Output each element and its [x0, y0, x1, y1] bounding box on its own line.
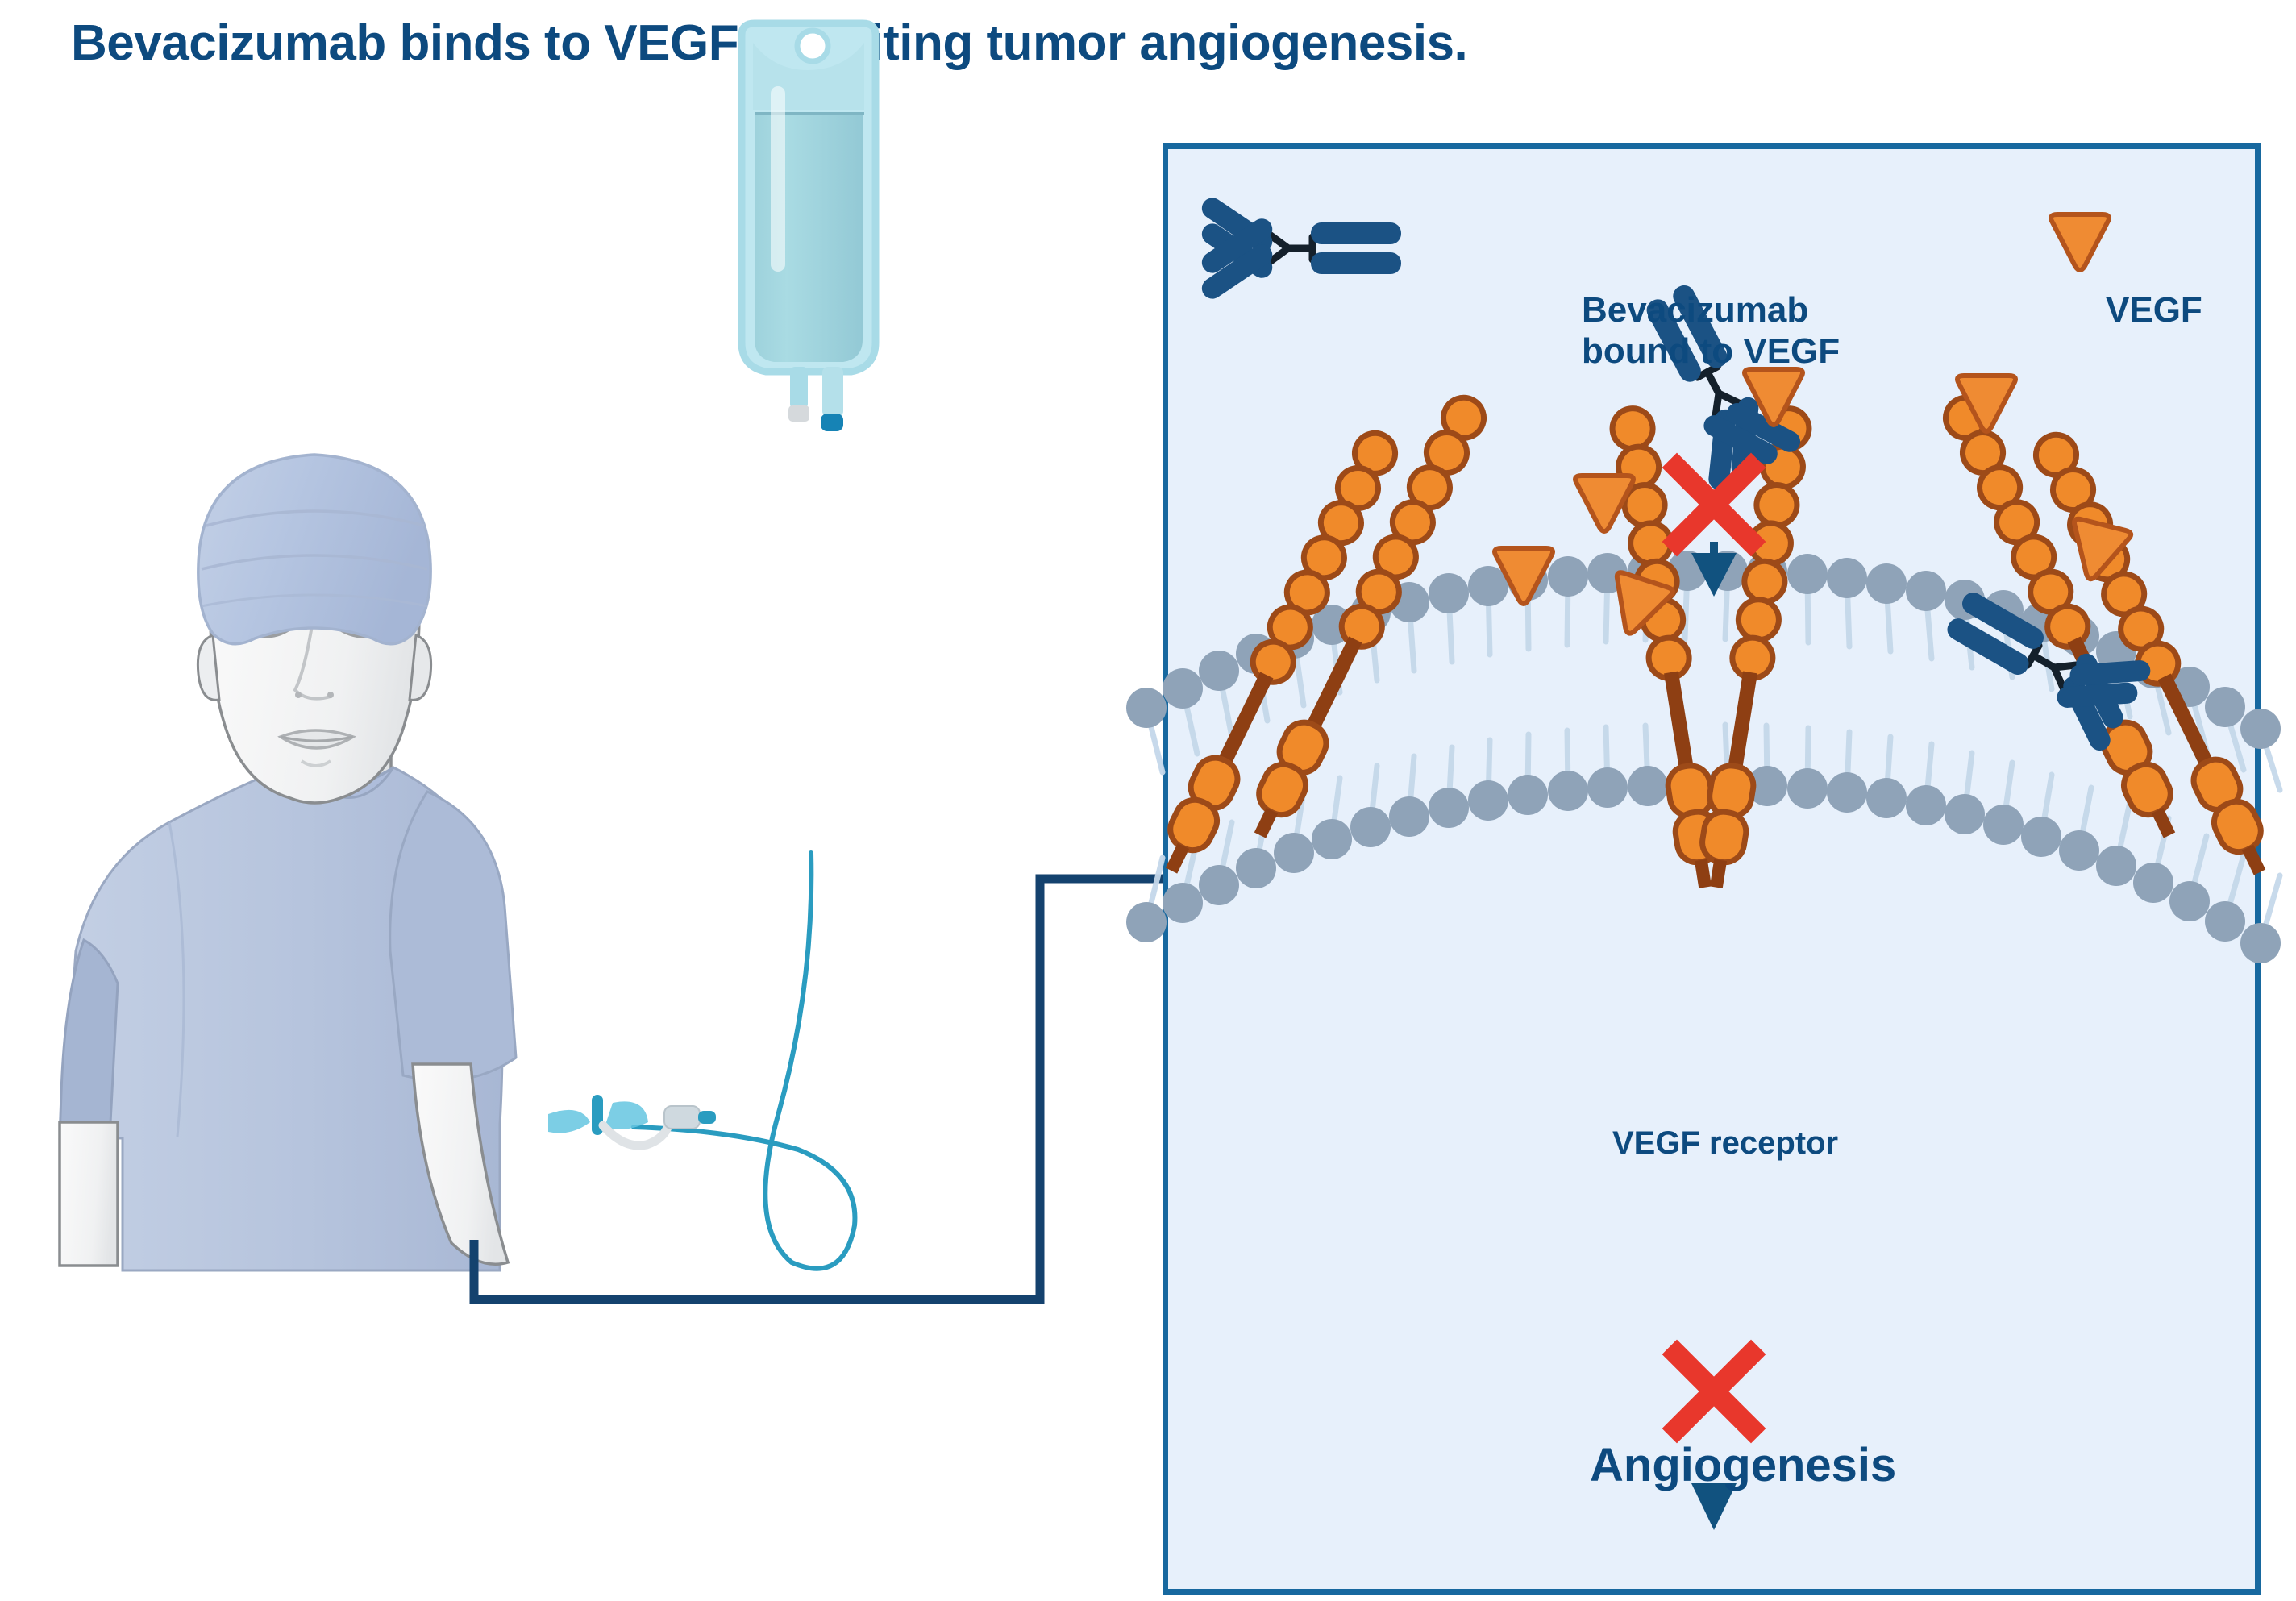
label-bev-line1: Bevacizumab [1582, 290, 1840, 331]
patient-sleeve-left [60, 940, 118, 1138]
iv-bag-port-right [822, 367, 843, 417]
iv-bag-port-left [790, 367, 808, 409]
patient-nostril-left [295, 692, 302, 698]
label-vegf: VEGF [2106, 290, 2202, 330]
blocked-signaling-arrow [1677, 1337, 1751, 1530]
iv-bag-spike-connector [821, 414, 843, 431]
label-angiogenesis: Angiogenesis [1590, 1440, 1896, 1492]
patient-forearm-left [60, 1122, 118, 1266]
patient-nostril-right [327, 692, 334, 698]
antibody-icon [1198, 193, 1401, 302]
vegf-triangle-icon [2051, 214, 2109, 270]
label-bev-line2: bound to VEGF [1582, 331, 1840, 372]
iv-bag-hanger-hole [797, 31, 828, 61]
label-bevacizumab-bound-to-vegf: Bevacizumab bound to VEGF [1582, 290, 1840, 372]
iv-bag-highlight [771, 86, 785, 272]
iv-bag-cap [788, 405, 809, 422]
patient-head-cap [198, 455, 430, 644]
iv-bag-icon [693, 20, 935, 439]
diagram-canvas: Bevacizumab binds to VEGF inhibiting tum… [0, 0, 2296, 1601]
connector-arrow-icon [387, 798, 1242, 1314]
label-vegf-receptor: VEGF receptor [1612, 1125, 1838, 1162]
